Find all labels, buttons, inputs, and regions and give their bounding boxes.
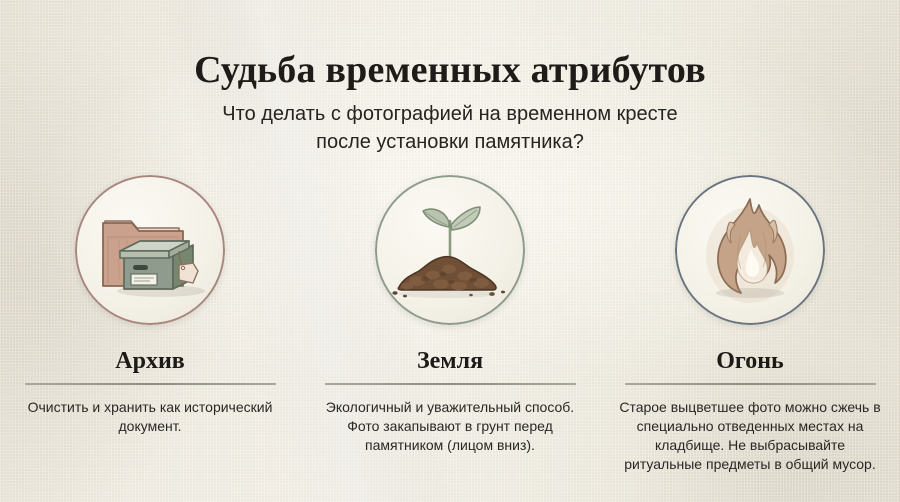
- page-subtitle: Что делать с фотографией на временном кр…: [0, 100, 900, 156]
- option-fire: Огонь Старое выцветшее фото можно сжечь …: [600, 175, 900, 474]
- infographic-slide: Судьба временных атрибутов Что делать с …: [0, 0, 900, 502]
- earth-heading: Земля: [417, 349, 483, 373]
- archive-medallion: [75, 175, 225, 325]
- archive-description: Очистить и хранить как исторический доку…: [16, 398, 284, 436]
- earth-divider: [325, 383, 576, 385]
- earth-medallion: [375, 175, 525, 325]
- option-earth: Земля Экологичный и уважительный способ.…: [300, 175, 600, 474]
- subtitle-line-2: после установки памятника?: [0, 128, 900, 156]
- options-row: Архив Очистить и хранить как исторически…: [0, 175, 900, 474]
- fire-divider: [625, 383, 876, 385]
- fire-description: Старое выцветшее фото можно сжечь в спец…: [616, 398, 884, 474]
- fire-ring: [675, 175, 825, 325]
- earth-ring: [375, 175, 525, 325]
- archive-divider: [25, 383, 276, 385]
- earth-description: Экологичный и уважительный способ. Фото …: [316, 398, 584, 455]
- option-archive: Архив Очистить и хранить как исторически…: [0, 175, 300, 474]
- fire-heading: Огонь: [716, 349, 784, 373]
- fire-medallion: [675, 175, 825, 325]
- page-title: Судьба временных атрибутов: [0, 48, 900, 92]
- archive-ring: [75, 175, 225, 325]
- subtitle-line-1: Что делать с фотографией на временном кр…: [0, 100, 900, 128]
- archive-heading: Архив: [115, 349, 184, 373]
